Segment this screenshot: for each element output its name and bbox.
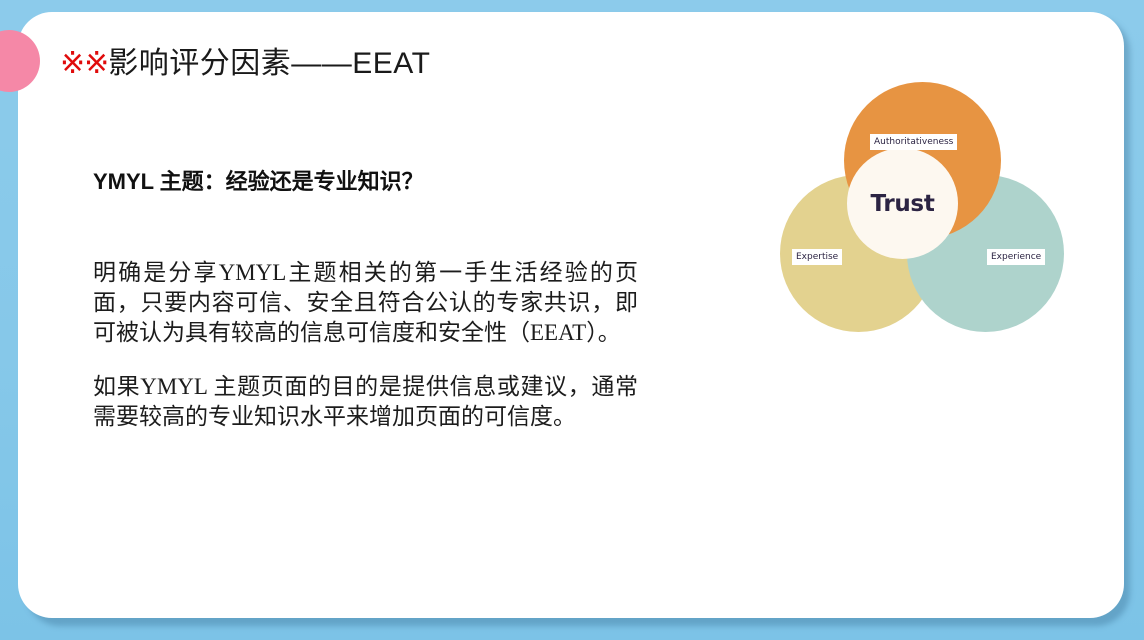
reference-mark-icon: ※※ <box>60 46 108 81</box>
slide-canvas: ※※影响评分因素——EEAT YMYL 主题：经验还是专业知识？ 明确是分享YM… <box>0 0 1144 640</box>
venn-label-authoritativeness: Authoritativeness <box>870 134 957 150</box>
page-title-text: 影响评分因素——EEAT <box>108 47 430 80</box>
page-title: ※※影响评分因素——EEAT <box>60 44 430 84</box>
venn-trust-label: Trust <box>870 191 934 217</box>
section-heading-latin: YMYL <box>93 169 154 194</box>
section-heading: YMYL 主题：经验还是专业知识？ <box>93 164 424 196</box>
section-heading-cjk: 主题：经验还是专业知识？ <box>154 169 424 194</box>
body-paragraph-1: 明确是分享YMYL主题相关的第一手生活经验的页面，只要内容可信、安全且符合公认的… <box>93 258 638 348</box>
venn-label-expertise: Expertise <box>792 249 842 265</box>
venn-label-experience: Experience <box>987 249 1045 265</box>
eeat-venn-diagram: Trust Authoritativeness Expertise Experi… <box>776 82 1068 334</box>
body-paragraph-2: 如果YMYL 主题页面的目的是提供信息或建议，通常需要较高的专业知识水平来增加页… <box>93 372 638 432</box>
venn-circle-trust: Trust <box>847 148 958 259</box>
